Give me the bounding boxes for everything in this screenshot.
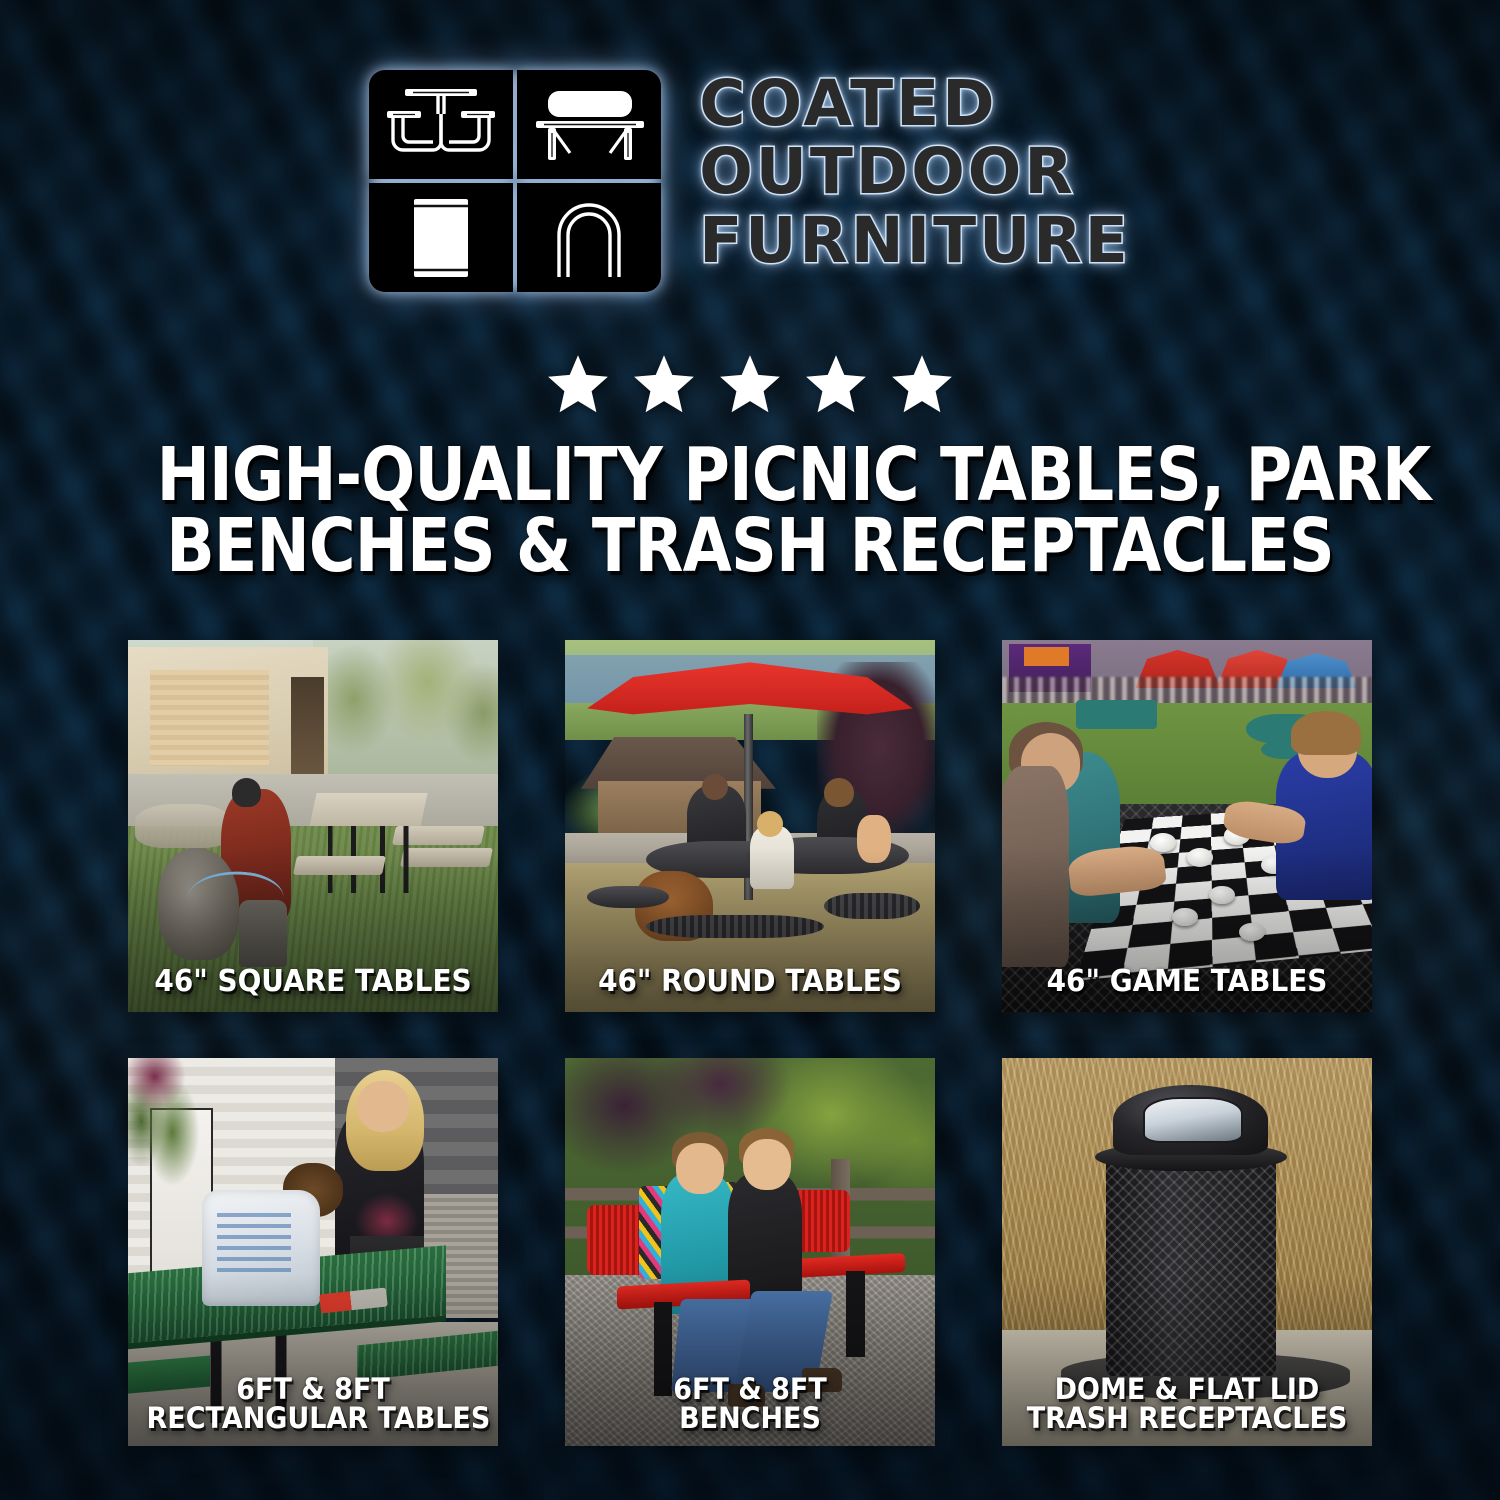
star-icon <box>631 352 697 416</box>
brand-wordmark: COATED OUTDOOR FURNITURE <box>699 70 1131 273</box>
caption-line: BENCHES <box>584 1404 917 1434</box>
product-photo-square-tables <box>128 640 498 1012</box>
brand-word-line-2: OUTDOOR <box>699 140 1131 204</box>
bike-rack-icon <box>517 183 661 292</box>
product-tile-square-tables[interactable]: 46" SQUARE TABLES <box>128 640 498 1012</box>
product-caption-square-tables: 46" SQUARE TABLES <box>147 967 480 998</box>
brand-word-line-1: COATED <box>699 72 1131 136</box>
product-tile-rectangular-tables[interactable]: 6FT & 8FT RECTANGULAR TABLES <box>128 1058 498 1446</box>
star-icon <box>889 352 955 416</box>
caption-line: 46" SQUARE TABLES <box>147 967 480 998</box>
product-caption-round-tables: 46" ROUND TABLES <box>584 967 917 998</box>
product-tile-trash-receptacles[interactable]: DOME & FLAT LID TRASH RECEPTACLES <box>1002 1058 1372 1446</box>
caption-line: DOME & FLAT LID <box>1021 1375 1354 1405</box>
product-tile-game-tables[interactable]: 46" GAME TABLES <box>1002 640 1372 1012</box>
product-tile-benches[interactable]: 6FT & 8FT BENCHES <box>565 1058 935 1446</box>
caption-line: 46" GAME TABLES <box>1021 967 1354 998</box>
promo-banner: COATED OUTDOOR FURNITURE HIGH-QUALITY PI… <box>0 0 1500 1500</box>
trash-receptacle-icon <box>369 183 513 292</box>
headline: HIGH-QUALITY PICNIC TABLES, PARK BENCHES… <box>157 440 1344 582</box>
product-grid: 46" SQUARE TABLES 46" ROUND TABLES <box>128 640 1372 1446</box>
star-rating <box>0 352 1500 416</box>
product-photo-game-tables <box>1002 640 1372 1012</box>
star-icon <box>803 352 869 416</box>
caption-line: TRASH RECEPTACLES <box>1021 1404 1354 1434</box>
brand-word-line-3: FURNITURE <box>699 209 1131 273</box>
logo-mark <box>369 70 661 292</box>
product-tile-round-tables[interactable]: 46" ROUND TABLES <box>565 640 935 1012</box>
star-icon <box>545 352 611 416</box>
caption-line: 6FT & 8FT <box>584 1375 917 1405</box>
caption-line: RECTANGULAR TABLES <box>147 1404 480 1434</box>
headline-line-2: BENCHES & TRASH RECEPTACLES <box>157 511 1344 582</box>
product-caption-trash-receptacles: DOME & FLAT LID TRASH RECEPTACLES <box>1021 1375 1354 1434</box>
product-caption-game-tables: 46" GAME TABLES <box>1021 967 1354 998</box>
park-bench-icon <box>517 70 661 179</box>
brand-logo: COATED OUTDOOR FURNITURE <box>0 70 1500 292</box>
product-caption-rectangular-tables: 6FT & 8FT RECTANGULAR TABLES <box>147 1375 480 1434</box>
picnic-table-icon <box>369 70 513 179</box>
star-icon <box>717 352 783 416</box>
caption-line: 46" ROUND TABLES <box>584 967 917 998</box>
caption-line: 6FT & 8FT <box>147 1375 480 1405</box>
product-caption-benches: 6FT & 8FT BENCHES <box>584 1375 917 1434</box>
headline-line-1: HIGH-QUALITY PICNIC TABLES, PARK <box>157 440 1344 511</box>
product-photo-round-tables <box>565 640 935 1012</box>
